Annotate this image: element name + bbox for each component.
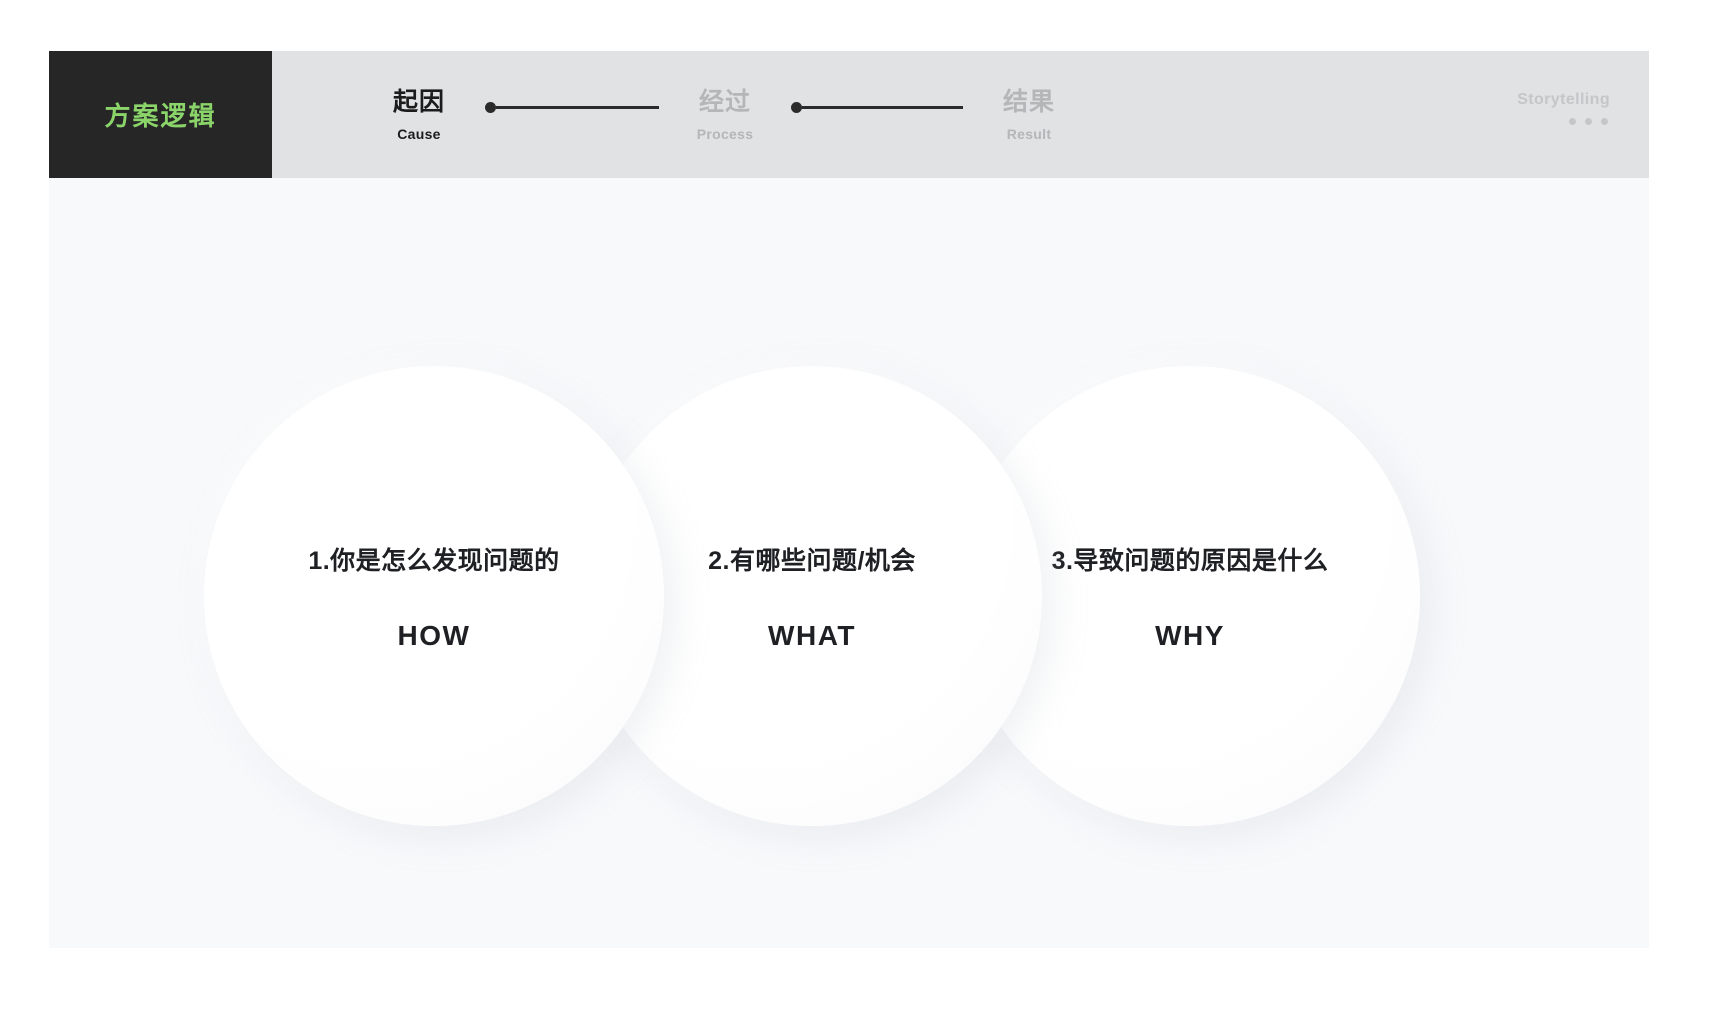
- brand-title: 方案逻辑: [104, 96, 216, 133]
- progress-stepper: 起因 Cause 经过 Process 结果 Result: [272, 51, 1079, 178]
- step-cause-cn: 起因: [393, 87, 445, 118]
- pagination-dots[interactable]: [1569, 118, 1610, 125]
- circle-keyword-3: WHY: [1155, 620, 1225, 652]
- connector-dot-icon: [485, 102, 496, 113]
- step-result-en: Result: [1007, 126, 1052, 142]
- circle-question-2: 2.有哪些问题/机会: [708, 541, 916, 577]
- step-cause[interactable]: 起因 Cause: [369, 51, 469, 178]
- slide-body: 3.导致问题的原因是什么 WHY 2.有哪些问题/机会 WHAT 1.你是怎么发…: [49, 178, 1649, 948]
- circle-keyword-2: WHAT: [768, 620, 856, 652]
- step-cause-en: Cause: [397, 126, 441, 142]
- circle-card-how[interactable]: 1.你是怎么发现问题的 HOW: [204, 366, 664, 826]
- step-result-cn: 结果: [1003, 87, 1055, 118]
- circle-group: 3.导致问题的原因是什么 WHY 2.有哪些问题/机会 WHAT 1.你是怎么发…: [49, 178, 1649, 948]
- storytelling-label: Storytelling: [1517, 91, 1610, 109]
- connector-line: [496, 106, 659, 109]
- step-connector-1: [485, 102, 659, 113]
- brand-block: 方案逻辑: [49, 51, 272, 178]
- pagination-dot-icon[interactable]: [1601, 118, 1608, 125]
- pagination-dot-icon[interactable]: [1585, 118, 1592, 125]
- circle-question-1: 1.你是怎么发现问题的: [308, 541, 559, 577]
- slide-canvas: 方案逻辑 起因 Cause 经过 Process 结果: [49, 51, 1649, 948]
- connector-line: [802, 106, 963, 109]
- circle-question-3: 3.导致问题的原因是什么: [1052, 541, 1329, 577]
- storytelling-block: Storytelling: [1517, 91, 1610, 125]
- step-process-cn: 经过: [699, 87, 751, 118]
- step-process[interactable]: 经过 Process: [675, 51, 775, 178]
- step-result[interactable]: 结果 Result: [979, 51, 1079, 178]
- step-connector-2: [791, 102, 963, 113]
- slide-header: 方案逻辑 起因 Cause 经过 Process 结果: [49, 51, 1649, 178]
- connector-dot-icon: [791, 102, 802, 113]
- step-process-en: Process: [697, 126, 754, 142]
- pagination-dot-icon[interactable]: [1569, 118, 1576, 125]
- circle-keyword-1: HOW: [398, 620, 471, 652]
